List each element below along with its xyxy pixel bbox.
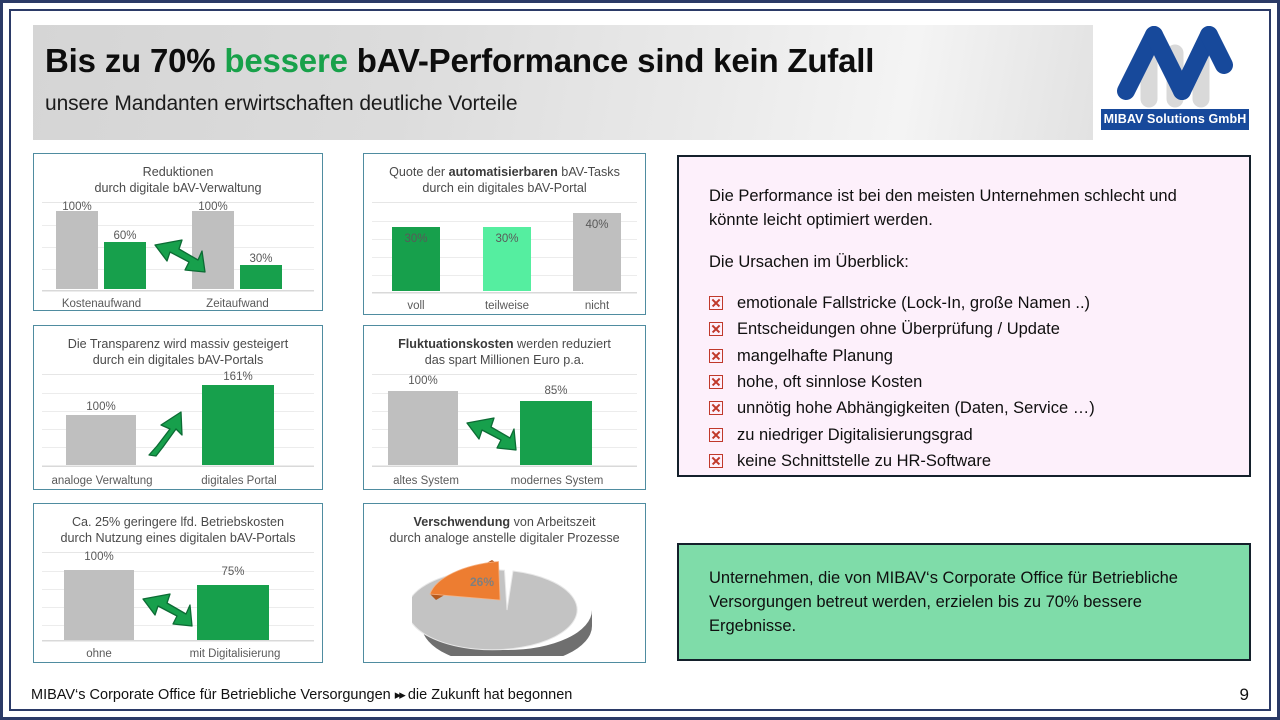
title-prefix: Bis zu 70% [45,42,224,79]
list-item-label: unnötig hohe Abhängigkeiten (Daten, Serv… [737,396,1095,420]
bar-kosten-vorher [56,211,98,289]
list-item-label: hohe, oft sinnlose Kosten [737,370,922,394]
bar-altes-system [388,391,458,465]
bar-value-voll: 30% [386,233,446,245]
chart-title-part1: Verschwendung [414,515,511,529]
broken-image-icon [709,349,723,363]
double-triangle-icon: ▸▸ [395,687,404,702]
cat-label-zeitaufwand: Zeitaufwand [180,298,295,310]
bar-value-mit-digitalisierung: 75% [197,566,269,578]
page-number: 9 [1240,685,1249,705]
bar-kosten-nachher [104,242,146,289]
conclusion-panel: Unternehmen, die von MIBAV‘s Corporate O… [677,543,1251,661]
arrow-down-right-icon [140,591,194,631]
chart-title-line1: Ca. 25% geringere lfd. Betriebskosten [72,515,284,529]
cat-label-kostenaufwand: Kostenaufwand [44,298,159,310]
bar-ohne [64,570,134,640]
title-suffix: bAV-Performance sind kein Zufall [348,42,874,79]
chart-title-line2: durch digitale bAV-Verwaltung [94,181,261,195]
slide-canvas: Bis zu 70% bessere bAV-Performance sind … [0,0,1280,720]
chart-title-verschwendung: Verschwendung von Arbeitszeit durch anal… [372,510,637,552]
list-item-label: mangelhafte Planung [737,344,893,368]
cat-label-digitales-portal: digitales Portal [184,475,294,487]
list-item: Entscheidungen ohne Überprüfung / Update [709,317,1227,341]
causes-list: emotionale Fallstricke (Lock-In, große N… [709,291,1227,474]
page-subtitle: unsere Mandanten erwirtschaften deutlich… [45,92,1093,116]
title-highlight: bessere [224,42,347,79]
chart-title-betriebskosten: Ca. 25% geringere lfd. Betriebskosten du… [42,510,314,552]
cat-label-altes-system: altes System [367,475,485,487]
footer-text-before: MIBAV‘s Corporate Office für Betrieblich… [31,687,395,703]
list-item: unnötig hohe Abhängigkeiten (Daten, Serv… [709,396,1227,420]
chart-title-part2: werden reduziert [514,337,611,351]
chart-title-reduktionen: Reduktionen durch digitale bAV-Verwaltun… [42,160,314,202]
chart-title-transparenz: Die Transparenz wird massiv gesteigert d… [42,332,314,374]
cat-label-teilweise: teilweise [471,300,543,312]
plot-area-verschwendung: 26% [372,552,637,657]
chart-card-fluktuation: Fluktuationskosten werden reduziert das … [363,325,646,490]
broken-image-icon [709,375,723,389]
bar-value-teilweise: 30% [477,233,537,245]
causes-panel: Die Performance ist bei den meisten Unte… [677,155,1251,477]
bar-value-ohne: 100% [64,551,134,563]
chart-title-part1: Fluktuationskosten [398,337,513,351]
bar-value-analoge-verwaltung: 100% [66,401,136,413]
broken-image-icon [709,428,723,442]
chart-card-verschwendung: Verschwendung von Arbeitszeit durch anal… [363,503,646,663]
cat-label-modernes-system: modernes System [498,475,616,487]
plot-area-transparenz: 100% 161% analoge Verwaltung digitales P… [42,374,314,489]
page-title: Bis zu 70% bessere bAV-Performance sind … [45,43,1093,80]
list-item: hohe, oft sinnlose Kosten [709,370,1227,394]
chart-card-automatisierbar: Quote der automatisierbaren bAV-Tasks du… [363,153,646,315]
bar-value-altes-system: 100% [388,375,458,387]
list-item: zu niedriger Digitalisierungsgrad [709,423,1227,447]
chart-title-line1: Reduktionen [143,165,214,179]
bar-zeit-nachher [240,265,282,289]
bar-value-kosten-vorher: 100% [52,201,102,213]
chart-title-automatisierbar: Quote der automatisierbaren bAV-Tasks du… [372,160,637,202]
bar-modernes-system [520,401,592,465]
chart-title-part3: bAV-Tasks [558,165,620,179]
arrow-down-right-icon [464,415,518,455]
broken-image-icon [709,401,723,415]
list-item: mangelhafte Planung [709,344,1227,368]
footer: MIBAV‘s Corporate Office für Betrieblich… [31,687,572,703]
broken-image-icon [709,322,723,336]
chart-title-line2: durch Nutzung eines digitalen bAV-Portal… [61,531,296,545]
plot-area-automatisierbar: 30% 30% 40% voll teilweise nicht [372,202,637,314]
cat-label-mit-digitalisierung: mit Digitalisierung [175,648,295,660]
broken-image-icon [709,296,723,310]
list-item-label: zu niedriger Digitalisierungsgrad [737,423,973,447]
cat-label-analoge-verwaltung: analoge Verwaltung [42,475,162,487]
bar-value-nicht: 40% [567,219,627,231]
chart-card-betriebskosten: Ca. 25% geringere lfd. Betriebskosten du… [33,503,323,663]
plot-area-reduktionen: 100% 60% 100% 30% Kostenaufwand Zeitaufw… [42,202,314,312]
chart-title-line2: durch ein digitales bAV-Portals [93,353,264,367]
list-item-label: keine Schnittstelle zu HR-Software [737,449,991,473]
performance-statement: Die Performance ist bei den meisten Unte… [709,185,1227,233]
list-item-label: emotionale Fallstricke (Lock-In, große N… [737,291,1090,315]
chart-card-transparenz: Die Transparenz wird massiv gesteigert d… [33,325,323,490]
plot-area-fluktuation: 100% 85% altes System modernes System [372,374,637,489]
bar-value-zeit-vorher: 100% [188,201,238,213]
chart-title-part2: von Arbeitszeit [510,515,595,529]
list-item: emotionale Fallstricke (Lock-In, große N… [709,291,1227,315]
footer-text-after: die Zukunft hat begonnen [404,687,573,703]
bar-value-zeit-nachher: 30% [236,253,286,265]
chart-title-line2: durch ein digitales bAV-Portal [422,181,586,195]
chart-title-part1: Quote der [389,165,449,179]
mibav-m-logo-icon [1114,21,1236,109]
bar-digitales-portal [202,385,274,465]
arrow-down-right-icon [152,237,208,277]
cat-label-voll: voll [380,300,452,312]
chart-title-fluktuation: Fluktuationskosten werden reduziert das … [372,332,637,374]
company-logo: MIBAV Solutions GmbH [1099,21,1251,141]
title-band: Bis zu 70% bessere bAV-Performance sind … [33,25,1093,140]
broken-image-icon [709,454,723,468]
bar-analoge-verwaltung [66,415,136,465]
pie-chart-3d: 26% [412,554,602,656]
bar-value-digitales-portal: 161% [202,371,274,383]
conclusion-text: Unternehmen, die von MIBAV‘s Corporate O… [709,567,1229,639]
chart-title-line1: Die Transparenz wird massiv gesteigert [68,337,288,351]
cat-label-nicht: nicht [561,300,633,312]
logo-company-name: MIBAV Solutions GmbH [1101,109,1249,130]
bar-value-modernes-system: 85% [520,385,592,397]
chart-title-line2: das spart Millionen Euro p.a. [425,353,585,367]
pie-slice-label: 26% [470,575,494,589]
bar-mit-digitalisierung [197,585,269,640]
chart-card-reduktionen: Reduktionen durch digitale bAV-Verwaltun… [33,153,323,311]
chart-title-part2: automatisierbaren [449,165,558,179]
plot-area-betriebskosten: 100% 75% ohne mit Digitalisierung [42,552,314,662]
list-item: keine Schnittstelle zu HR-Software [709,449,1227,473]
chart-title-line2: durch analoge anstelle digitaler Prozess… [389,531,619,545]
list-item-label: Entscheidungen ohne Überprüfung / Update [737,317,1060,341]
causes-heading: Die Ursachen im Überblick: [709,251,1227,275]
cat-label-ohne: ohne [57,648,141,660]
bar-value-kosten-nachher: 60% [100,230,150,242]
arrow-up-right-icon [146,407,198,459]
